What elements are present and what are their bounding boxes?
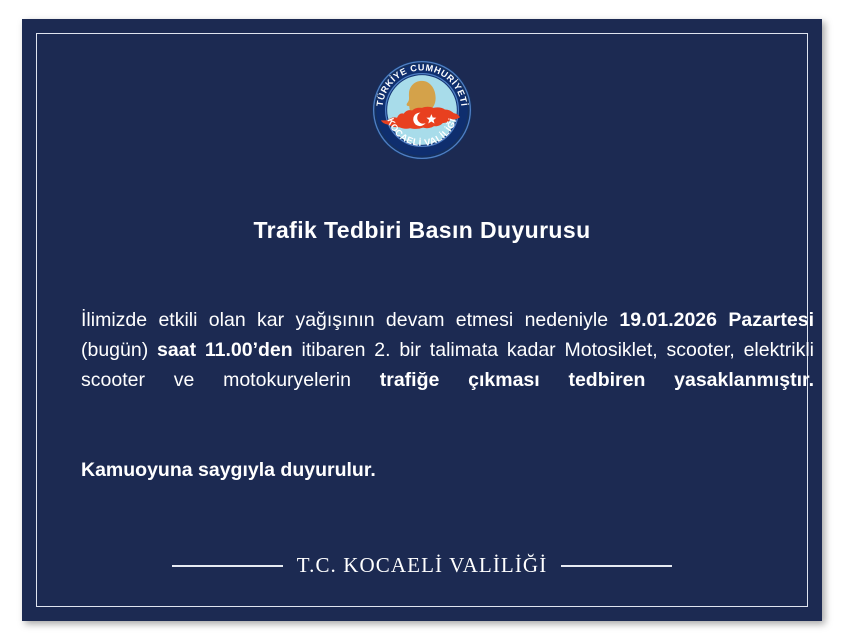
- announcement-paragraph-1: İlimizde etkili olan kar yağışının devam…: [81, 305, 814, 425]
- announcement-paragraph-2-run-0: Kamuoyuna saygıyla duyurulur.: [81, 459, 376, 481]
- footer-institution-name: T.C. KOCAELİ VALİLİĞİ: [297, 553, 548, 578]
- announcement-paragraph-1-run-2: (bugün): [81, 339, 157, 361]
- footer-rule-left: [172, 565, 283, 567]
- announcement-paragraph-2: Kamuoyuna saygıyla duyurulur.: [81, 455, 814, 485]
- emblem-container: TÜRKİYE CUMHURİYETİ KOCAELİ VALİLİĞİ: [22, 58, 822, 162]
- kocaeli-valiligi-seal-icon: TÜRKİYE CUMHURİYETİ KOCAELİ VALİLİĞİ: [370, 58, 474, 162]
- footer-rule-right: [561, 565, 672, 567]
- announcement-paragraph-1-run-5: trafiğe çıkması tedbiren yasaklanmıştır.: [380, 369, 814, 391]
- announcement-paragraph-1-run-3: saat 11.00’den: [157, 339, 293, 361]
- announcement-card: TÜRKİYE CUMHURİYETİ KOCAELİ VALİLİĞİ Tra…: [22, 19, 822, 621]
- announcement-page: TÜRKİYE CUMHURİYETİ KOCAELİ VALİLİĞİ Tra…: [0, 0, 850, 638]
- announcement-body: İlimizde etkili olan kar yağışının devam…: [81, 305, 814, 485]
- announcement-paragraph-1-run-1: 19.01.2026 Pazartesi: [619, 309, 814, 331]
- announcement-paragraph-1-run-0: İlimizde etkili olan kar yağışının devam…: [81, 309, 619, 331]
- page-title: Trafik Tedbiri Basın Duyurusu: [62, 217, 782, 244]
- footer: T.C. KOCAELİ VALİLİĞİ: [22, 553, 822, 578]
- paragraph-spacer: [81, 425, 814, 455]
